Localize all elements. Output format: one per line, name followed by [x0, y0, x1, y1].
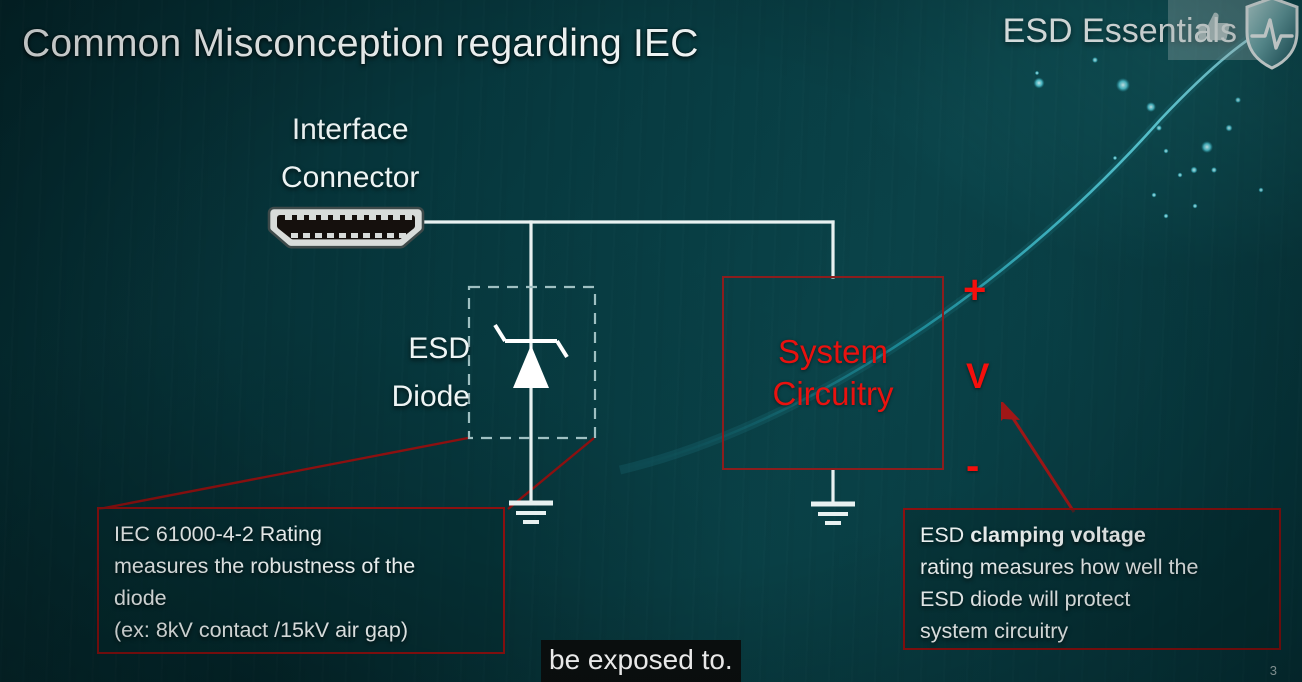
clamping-voltage-arrow	[1001, 402, 1074, 512]
callout-left-line4: (ex: 8kV contact /15kV air gap)	[114, 614, 489, 646]
interface-label-line1: Interface	[281, 106, 419, 154]
callout-clamping-voltage: ESD clamping voltage rating measures how…	[903, 508, 1281, 650]
callout-right-line3: ESD diode will protect	[920, 583, 1265, 615]
callout-right-line1: ESD clamping voltage	[920, 519, 1265, 551]
system-circuitry-label: System Circuitry	[773, 331, 894, 415]
system-circuitry-box: System Circuitry	[722, 276, 944, 470]
slide-number: 3	[1270, 663, 1277, 678]
ground-symbol-left	[509, 503, 553, 522]
interface-label-line2: Connector	[281, 154, 419, 202]
esd-diode-dashed-box	[469, 287, 595, 438]
voltage-v-marker: V	[966, 357, 989, 397]
callout-leader-lines	[99, 438, 594, 509]
esd-diode-label: ESD Diode	[360, 325, 470, 421]
slide-canvas: Common Misconception regarding IEC ESD E…	[0, 0, 1302, 682]
interface-connector-label: Interface Connector	[281, 106, 419, 202]
callout-right-line2: rating measures how well the	[920, 551, 1265, 583]
voltage-plus-marker: +	[963, 268, 986, 313]
callout-left-line3: diode	[114, 582, 489, 614]
voltage-minus-marker: -	[966, 444, 979, 489]
callout-left-line2: measures the robustness of the	[114, 550, 489, 582]
callout-iec-rating: IEC 61000-4-2 Rating measures the robust…	[97, 507, 505, 654]
subtitle-caption: be exposed to.	[541, 640, 741, 682]
callout-right-bold: clamping voltage	[970, 523, 1146, 547]
callout-right-lead: ESD	[920, 523, 970, 547]
callout-left-line1: IEC 61000-4-2 Rating	[114, 518, 489, 550]
callout-right-line4: system circuitry	[920, 615, 1265, 647]
system-label-line2: Circuitry	[773, 373, 894, 415]
esd-label-line1: ESD	[360, 325, 470, 373]
system-label-line1: System	[773, 331, 894, 373]
zener-diode-symbol	[495, 325, 567, 388]
esd-label-line2: Diode	[360, 373, 470, 421]
page-title: Common Misconception regarding IEC	[22, 22, 699, 66]
ground-symbol-right	[811, 504, 855, 523]
thumbs-up-glyph	[1194, 7, 1234, 47]
shield-heartbeat-icon	[1243, 0, 1301, 72]
hdmi-connector-icon	[266, 204, 426, 252]
